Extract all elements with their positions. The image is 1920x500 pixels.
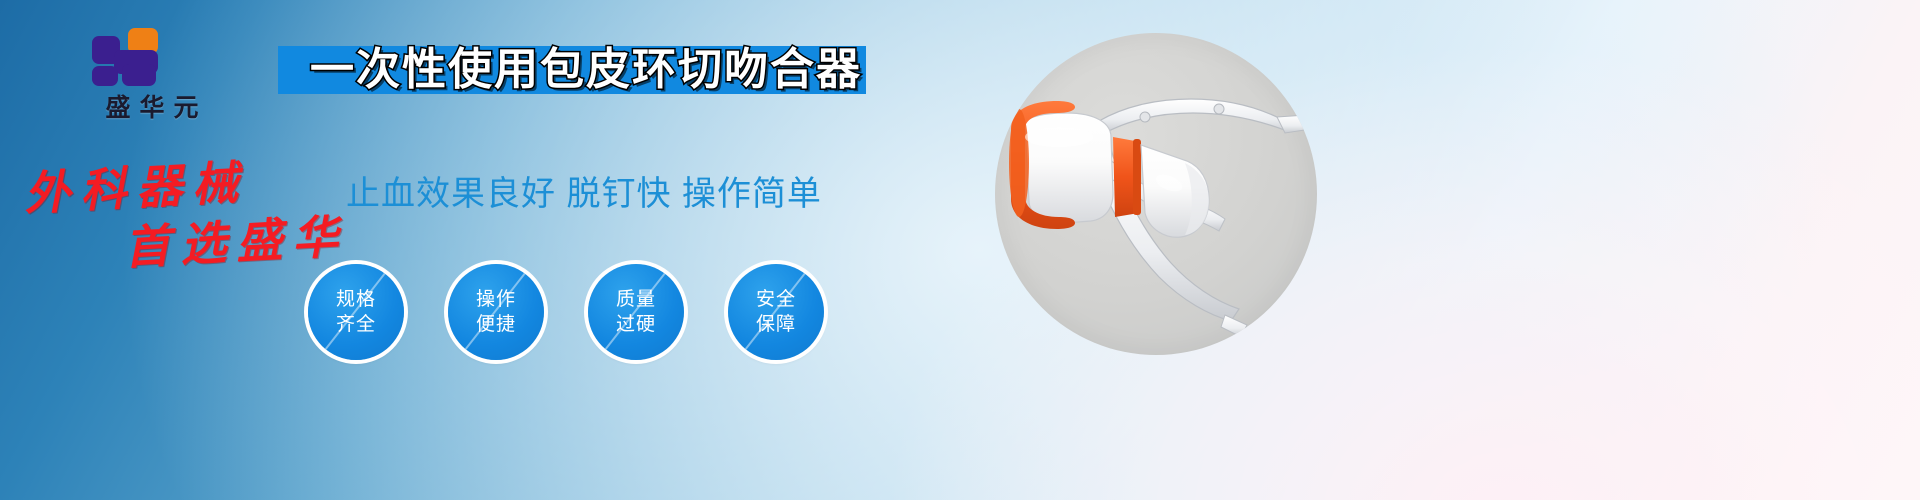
feature-circle-operation[interactable]: 操作 便捷: [448, 264, 544, 360]
slogan-line-2: 首选盛华: [122, 200, 349, 278]
feature-label-line2: 便捷: [476, 312, 516, 337]
feature-circle-specs[interactable]: 规格 齐全: [308, 264, 404, 360]
company-logo-icon: [92, 28, 162, 86]
company-name: 盛华元: [62, 88, 242, 124]
circumcision-stapler-icon: [995, 33, 1317, 355]
feature-label-line2: 齐全: [336, 312, 376, 337]
feature-label-line1: 质量: [616, 287, 656, 312]
promo-banner: 盛华元 一次性使用包皮环切吻合器 外科器械 首选盛华 止血效果良好 脱钉快 操作…: [0, 0, 1920, 500]
feature-label-line1: 操作: [476, 287, 516, 312]
feature-label-line2: 过硬: [616, 312, 656, 337]
brand-logo-block: 盛华元: [62, 28, 242, 120]
feature-label-line2: 保障: [756, 312, 796, 337]
product-subtitle: 止血效果良好 脱钉快 操作简单: [346, 166, 822, 215]
product-photo: [995, 33, 1317, 355]
product-title: 一次性使用包皮环切吻合器: [286, 40, 886, 100]
feature-circle-quality[interactable]: 质量 过硬: [588, 264, 684, 360]
feature-circle-safety[interactable]: 安全 保障: [728, 264, 824, 360]
feature-label-line1: 安全: [756, 287, 796, 312]
feature-label-line1: 规格: [336, 287, 376, 312]
